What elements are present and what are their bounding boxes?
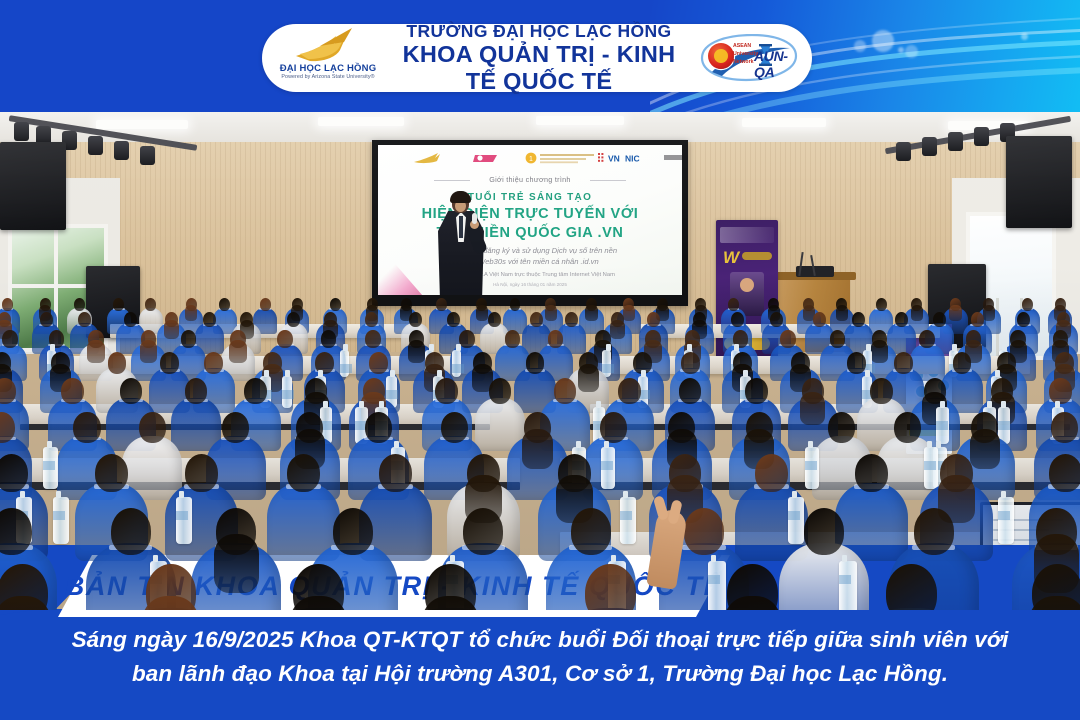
audience-head: [436, 298, 447, 311]
audience-member: [1001, 564, 1080, 610]
bokeh-dot: [872, 30, 894, 52]
audience-head: [530, 312, 543, 327]
audience-head: [895, 312, 908, 327]
audience-head: [933, 312, 946, 327]
audience-head: [111, 508, 151, 555]
audience-head: [287, 312, 300, 327]
event-photo: 1 VN NIC: [0, 112, 1080, 610]
audience-head: [647, 312, 660, 327]
audience-head: [365, 330, 381, 348]
aun-qa-logo-icon: ASEAN University Network AUN-QA: [692, 30, 800, 86]
audience-head: [108, 352, 127, 374]
audience-head: [369, 352, 388, 374]
audience-head: [0, 454, 28, 492]
audience-head: [145, 298, 156, 311]
audience-head: [755, 454, 788, 492]
audience-head: [894, 412, 921, 443]
audience-head: [139, 412, 166, 443]
bokeh-dot: [854, 40, 866, 52]
audience-head: [876, 298, 887, 311]
bokeh-dot: [898, 47, 904, 53]
audience-head: [40, 312, 53, 327]
asean-seal-icon: [708, 43, 734, 69]
audience-head: [571, 508, 611, 555]
audience-head: [185, 454, 218, 492]
audience-head: [74, 298, 85, 311]
audience-head: [847, 352, 866, 374]
audience-head: [488, 312, 501, 327]
audience-head: [510, 298, 521, 311]
audience-head: [919, 330, 935, 348]
audience-member: [262, 564, 375, 610]
audience-head: [953, 352, 972, 374]
university-logo: ĐẠI HỌC LẠC HỒNG Powered by Arizona Stat…: [272, 27, 384, 89]
university-name: TRƯỜNG ĐẠI HỌC LẠC HỒNG: [386, 22, 692, 42]
audience-head: [886, 564, 937, 610]
aun-qa-label: AUN-QA: [754, 48, 800, 80]
audience-head: [321, 330, 337, 348]
audience-head: [804, 508, 844, 555]
audience-head: [770, 312, 783, 327]
audience-head: [2, 330, 18, 348]
audience-head: [160, 352, 179, 374]
audience-head: [679, 378, 701, 404]
audience-head: [203, 312, 216, 327]
audience-head: [1022, 298, 1033, 311]
audience-head: [441, 412, 468, 443]
logo-name: ĐẠI HỌC LẠC HỒNG: [272, 63, 384, 74]
audience-head: [409, 312, 422, 327]
audience-head: [681, 352, 700, 374]
audience-member: [696, 564, 809, 610]
audience-head: [113, 298, 124, 311]
audience-head: [870, 378, 892, 404]
audience-head: [365, 312, 378, 327]
audience-head: [1051, 412, 1078, 443]
audience-head: [73, 412, 100, 443]
audience-head: [813, 312, 826, 327]
audience-head: [95, 454, 128, 492]
audience-head: [222, 412, 249, 443]
audience-head: [365, 412, 392, 443]
audience-member: [394, 564, 507, 610]
audience-head: [219, 298, 230, 311]
audience-head: [463, 508, 503, 555]
header-title-pill: ĐẠI HỌC LẠC HỒNG Powered by Arizona Stat…: [262, 24, 812, 92]
audience-head: [1049, 378, 1071, 404]
audience-head: [855, 454, 888, 492]
audience-head: [1049, 454, 1080, 492]
audience-member: [554, 564, 667, 610]
caption-line-1: Sáng ngày 16/9/2025 Khoa QT-KTQT tổ chức…: [38, 623, 1042, 657]
audience-head: [287, 454, 320, 492]
audience-head: [379, 454, 412, 492]
audience-head: [830, 330, 846, 348]
audience-head: [435, 378, 457, 404]
header-titles: TRƯỜNG ĐẠI HỌC LẠC HỒNG KHOA QUẢN TRỊ - …: [384, 22, 692, 94]
header-bar: ĐẠI HỌC LẠC HỒNG Powered by Arizona Stat…: [0, 0, 1080, 112]
audience-head: [120, 378, 142, 404]
audience-head: [585, 564, 636, 610]
audience-head: [244, 378, 266, 404]
bokeh-dot: [1021, 33, 1028, 40]
audience-head: [684, 508, 724, 555]
audience-head: [971, 312, 984, 327]
audience-head: [565, 312, 578, 327]
audience-head: [914, 508, 954, 555]
audience-head: [548, 330, 564, 348]
long-hair: [585, 305, 597, 321]
audience-head: [330, 298, 341, 311]
audience-head: [2, 298, 13, 311]
audience-head: [731, 312, 744, 327]
audience-head: [459, 330, 475, 348]
audience-head: [78, 312, 91, 327]
caption-line-2: ban lãnh đạo Khoa tại Hội trường A301, C…: [38, 657, 1042, 691]
audience-head: [780, 330, 796, 348]
audience-head: [894, 352, 913, 374]
audience-head: [554, 378, 576, 404]
faculty-name: KHOA QUẢN TRỊ - KINH TẾ QUỐC TẾ: [386, 41, 692, 94]
audience-head: [745, 378, 767, 404]
audience-head: [0, 378, 16, 404]
audience-member: [0, 564, 79, 610]
poster-canvas: ĐẠI HỌC LẠC HỒNG Powered by Arizona Stat…: [0, 0, 1080, 720]
audience-head: [1017, 312, 1030, 327]
audience-head: [489, 378, 511, 404]
audience-member: [855, 564, 968, 610]
audience-head: [600, 412, 627, 443]
audience-head: [852, 312, 865, 327]
logo-tagline: Powered by Arizona State University®: [272, 74, 384, 80]
bokeh-dot: [905, 45, 918, 58]
audience-head: [185, 378, 207, 404]
audience-head: [728, 298, 739, 311]
bird-mark-icon: [290, 26, 364, 64]
audience-head: [526, 352, 545, 374]
audience-head: [505, 330, 521, 348]
audience-head: [618, 378, 640, 404]
audience-head: [61, 378, 83, 404]
water-bottle: [176, 497, 192, 544]
audience-head: [447, 312, 460, 327]
audience-head: [204, 352, 223, 374]
caption-text: Sáng ngày 16/9/2025 Khoa QT-KTQT tổ chức…: [0, 623, 1080, 691]
audience-head: [333, 508, 373, 555]
water-bottle: [936, 407, 949, 443]
audience-head: [181, 330, 197, 348]
audience-head: [124, 312, 137, 327]
audience-head: [260, 298, 271, 311]
audience-member: [114, 564, 227, 610]
audience-head: [828, 412, 855, 443]
audience-head: [0, 508, 32, 555]
audience-head: [277, 330, 293, 348]
